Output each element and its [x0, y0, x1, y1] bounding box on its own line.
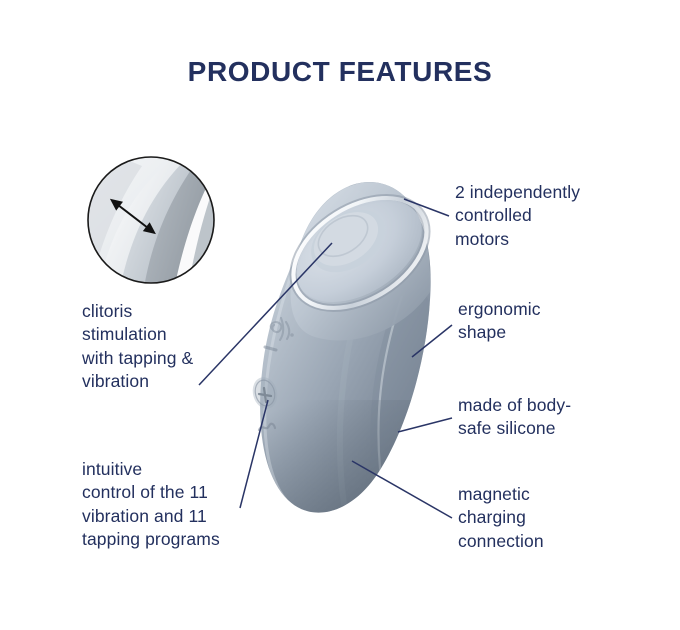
leader-line-magnetic [352, 461, 452, 518]
tapping-detail-magnifier [88, 157, 214, 300]
feature-label-motors: 2 independently controlled motors [455, 181, 630, 251]
leader-line-silicone [398, 418, 452, 432]
feature-label-ergonomic-shape: ergonomic shape [458, 298, 633, 345]
feature-label-clitoris-stimulation: clitoris stimulation with tapping & vibr… [82, 300, 282, 393]
feature-label-magnetic-charging: magnetic charging connection [458, 483, 633, 553]
feature-label-body-safe-silicone: made of body- safe silicone [458, 394, 643, 441]
feature-label-intuitive-control: intuitive control of the 11 vibration an… [82, 458, 292, 551]
